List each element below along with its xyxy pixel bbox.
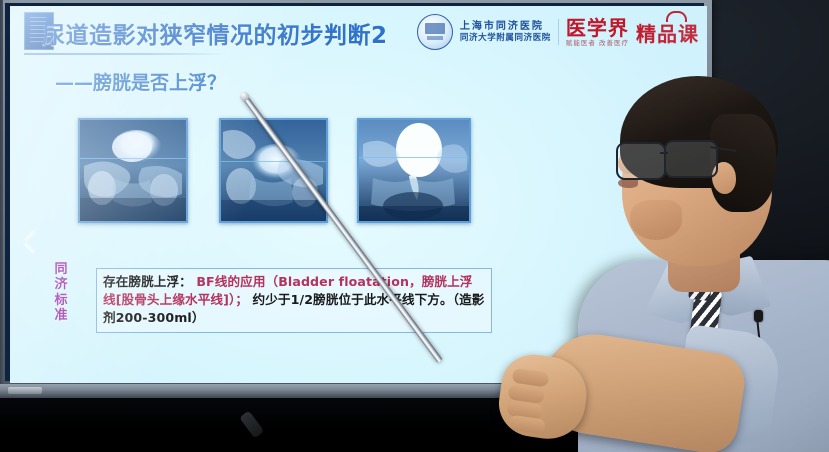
pointer-tip-icon bbox=[240, 92, 249, 101]
brand-name: 医学界 bbox=[566, 18, 629, 38]
logo-strip: 上海市同济医院 同济大学附属同济医院 医学界 赋能医者 改善医疗 精品课 bbox=[417, 14, 699, 50]
course-badge-arc-icon bbox=[666, 11, 687, 22]
title-divider bbox=[24, 53, 228, 55]
hospital-name-line2: 同济大学附属同济医院 bbox=[460, 33, 551, 43]
hospital-crest-icon bbox=[417, 14, 453, 50]
xray-image-3[interactable] bbox=[357, 118, 471, 223]
brand-block: 医学界 赋能医者 改善医疗 bbox=[566, 18, 629, 47]
brand-tagline: 赋能医者 改善医疗 bbox=[566, 40, 629, 47]
eyeglasses-bridge bbox=[660, 152, 668, 154]
slide-title: 尿道造影对狭窄情况的初步判断2 bbox=[42, 16, 388, 50]
xray-render-1 bbox=[80, 120, 186, 221]
caption-box: 存在膀胱上浮： BF线的应用（Bladder floatation，膀胱上浮线[… bbox=[96, 268, 492, 333]
presenter-chin bbox=[630, 200, 682, 240]
standard-tag: 同济标准 bbox=[52, 262, 70, 323]
logo-divider bbox=[558, 19, 559, 45]
screenshot-stage: 尿道造影对狭窄情况的初步判断2 ——膀胱是否上浮？ 上海市同济医院 同济大学附属… bbox=[0, 0, 829, 452]
eyeglasses-left-lens bbox=[616, 142, 666, 180]
bf-reference-line-2 bbox=[221, 161, 326, 162]
hospital-name-line1: 上海市同济医院 bbox=[460, 21, 551, 33]
bf-reference-line-1 bbox=[80, 158, 186, 159]
course-badge: 精品课 bbox=[636, 18, 699, 47]
xray-image-1[interactable] bbox=[78, 118, 188, 223]
slide-subtitle: ——膀胱是否上浮？ bbox=[55, 68, 226, 95]
screen-left-rail bbox=[0, 0, 3, 395]
bf-reference-line-3 bbox=[359, 157, 469, 158]
course-badge-label: 精品课 bbox=[636, 22, 699, 46]
xray-render-3 bbox=[359, 120, 469, 221]
presenter bbox=[560, 74, 829, 452]
hospital-name-block: 上海市同济医院 同济大学附属同济医院 bbox=[460, 21, 551, 43]
screen-bezel-control[interactable] bbox=[8, 387, 42, 394]
chevron-left-icon[interactable] bbox=[18, 228, 38, 262]
caption-lead: 存在膀胱上浮： bbox=[103, 274, 192, 289]
